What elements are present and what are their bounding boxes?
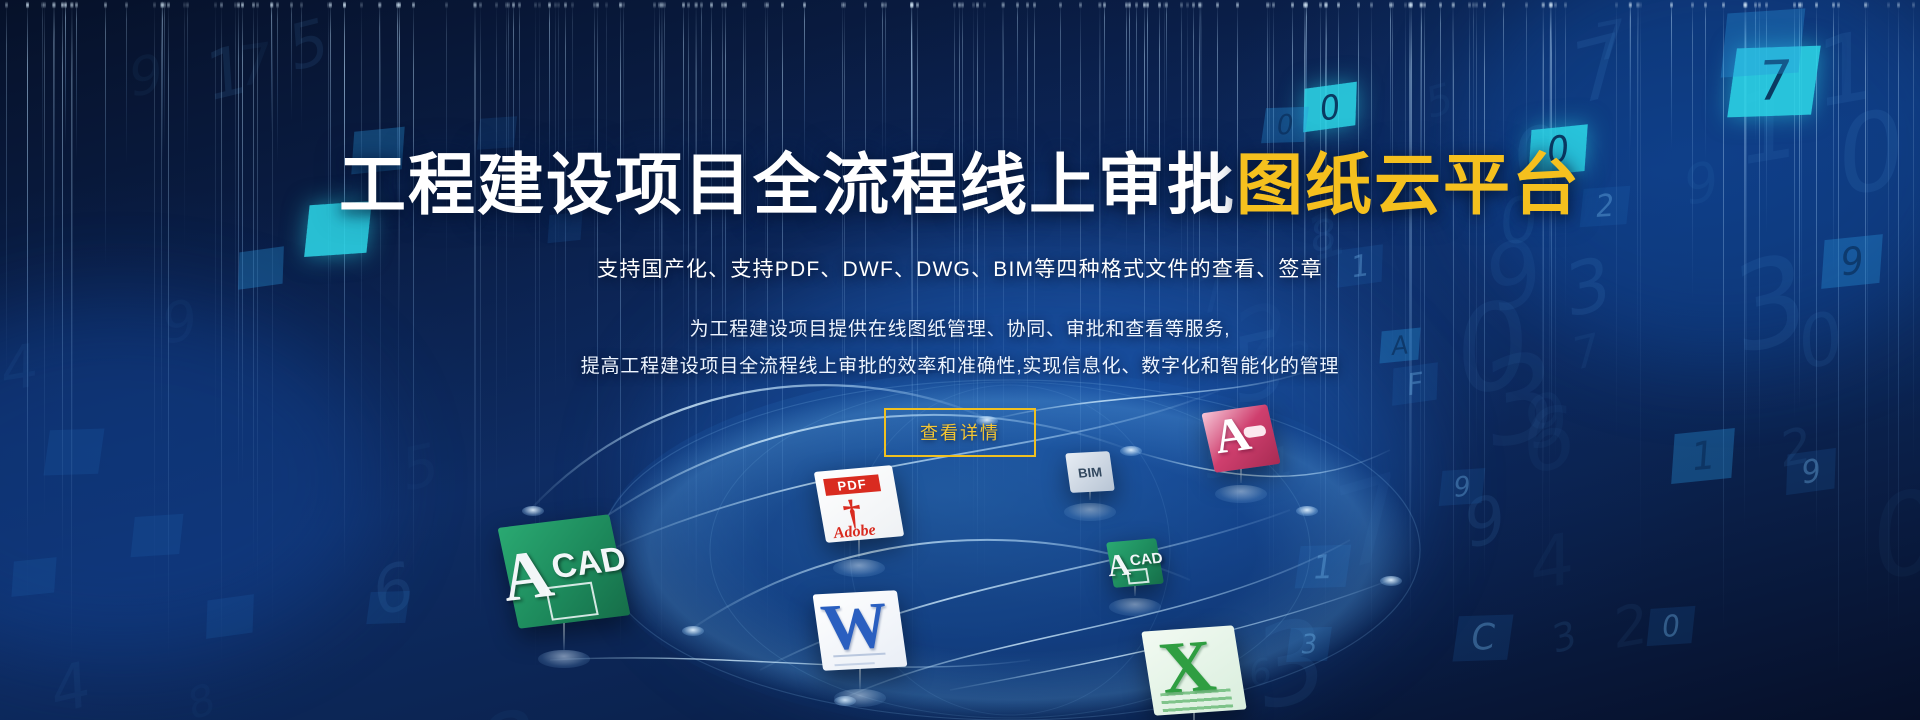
background-tile <box>206 594 254 639</box>
banner-description-line-1: 为工程建设项目提供在线图纸管理、协同、审批和查看等服务, <box>0 311 1920 348</box>
view-details-button[interactable]: 查看详情 <box>884 408 1036 457</box>
icon-pedestal <box>834 689 886 707</box>
banner-content: 工程建设项目全流程线上审批图纸云平台 支持国产化、支持PDF、DWF、DWG、B… <box>0 0 1920 457</box>
icon-stem <box>563 619 565 650</box>
network-node <box>1380 576 1402 586</box>
cta-container: 查看详情 <box>0 408 1920 457</box>
icon-pedestal <box>833 559 885 577</box>
page-title: 工程建设项目全流程线上审批图纸云平台 <box>0 152 1920 219</box>
bim-file-icon[interactable]: BIM <box>1065 451 1115 493</box>
hero-banner: 0357912468073915035791246807391503579124… <box>0 0 1920 720</box>
banner-description: 为工程建设项目提供在线图纸管理、协同、审批和查看等服务, 提高工程建设项目全流程… <box>0 311 1920 385</box>
background-tile <box>11 557 56 597</box>
excel-file-icon[interactable]: X <box>1141 625 1246 715</box>
pdf-file-icon[interactable]: PDF†Adobe <box>814 465 905 543</box>
icon-pedestal <box>1109 598 1161 616</box>
background-digit: 4 <box>50 646 92 720</box>
banner-subtitle: 支持国产化、支持PDF、DWF、DWG、BIM等四种格式文件的查看、签章 <box>0 253 1920 283</box>
dwg-file-icon[interactable]: ACAD <box>1106 538 1164 588</box>
word-file-icon[interactable]: W <box>813 590 908 671</box>
background-digit: 0 <box>1871 462 1920 608</box>
background-tile <box>131 514 184 558</box>
network-node <box>682 626 704 636</box>
icon-pedestal <box>538 650 590 668</box>
network-node <box>1296 506 1318 516</box>
network-node <box>522 506 544 516</box>
background-tile: 0 <box>1647 606 1696 646</box>
icon-pedestal <box>1064 503 1116 521</box>
banner-description-line-2: 提高工程建设项目全流程线上审批的效率和准确性,实现信息化、数字化和智能化的管理 <box>0 348 1920 385</box>
background-digit: 8 <box>185 673 217 720</box>
page-title-highlight: 图纸云平台 <box>1236 148 1581 223</box>
background-digit: 2 <box>1613 590 1648 661</box>
background-tile <box>366 591 409 624</box>
page-title-primary: 工程建设项目全流程线上审批 <box>339 148 1236 223</box>
icon-pedestal <box>1215 485 1267 503</box>
autocad-file-icon[interactable]: ACAD <box>497 514 630 628</box>
